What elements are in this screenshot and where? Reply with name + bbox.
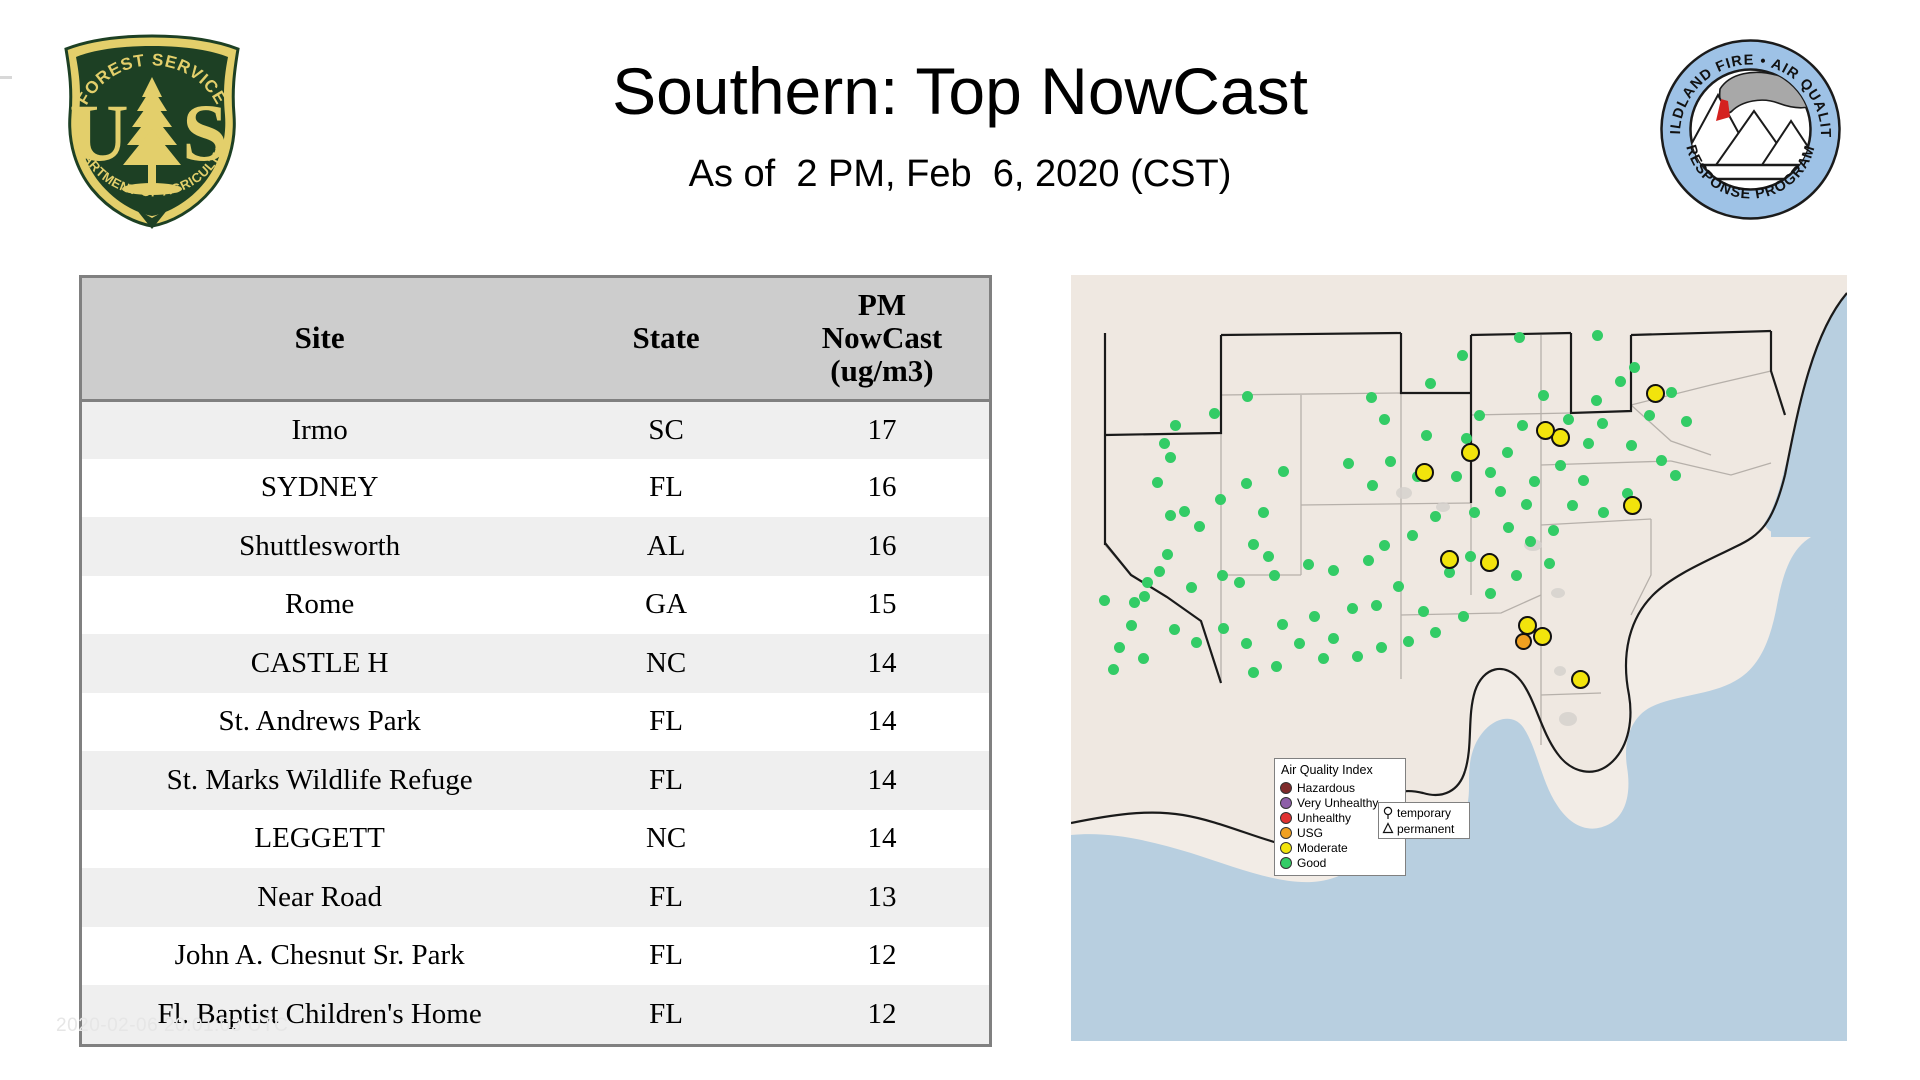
monitor-dot-good[interactable] (1186, 582, 1197, 593)
aqi-legend-label: Very Unhealthy (1297, 797, 1378, 809)
monitor-dot-good[interactable] (1309, 611, 1320, 622)
cell-state: FL (557, 693, 775, 752)
cell-state: SC (557, 400, 775, 459)
monitor-dot-good[interactable] (1179, 506, 1190, 517)
monitor-dot-moderate[interactable] (1623, 496, 1642, 515)
monitor-dot-good[interactable] (1591, 395, 1602, 406)
monitor-dot-good[interactable] (1666, 387, 1677, 398)
monitor-dot-good[interactable] (1347, 603, 1358, 614)
monitor-dot-good[interactable] (1271, 661, 1282, 672)
monitor-dot-good[interactable] (1458, 611, 1469, 622)
monitor-dot-good[interactable] (1218, 623, 1229, 634)
triangle-outline-icon (1382, 822, 1394, 836)
legend-label-temporary: temporary (1397, 807, 1451, 819)
cell-state: FL (557, 751, 775, 810)
monitor-dot-good[interactable] (1451, 471, 1462, 482)
air-quality-map[interactable]: Air Quality Index HazardousVery Unhealth… (1071, 275, 1847, 1041)
monitor-dot-good[interactable] (1555, 460, 1566, 471)
monitor-dot-good[interactable] (1425, 378, 1436, 389)
aqi-legend-row: Good (1280, 855, 1400, 870)
monitor-dot-good[interactable] (1421, 430, 1432, 441)
monitor-dot-good[interactable] (1644, 410, 1655, 421)
aqi-legend-label: Good (1297, 857, 1326, 869)
monitor-dot-good[interactable] (1328, 633, 1339, 644)
monitor-dot-good[interactable] (1418, 606, 1429, 617)
monitor-dot-good[interactable] (1517, 420, 1528, 431)
monitor-dot-good[interactable] (1407, 530, 1418, 541)
aqi-color-swatch-icon (1280, 857, 1292, 869)
monitor-dot-good[interactable] (1138, 653, 1149, 664)
cell-site: Near Road (82, 868, 557, 927)
monitor-dot-good[interactable] (1502, 447, 1513, 458)
monitor-dot-good[interactable] (1154, 566, 1165, 577)
monitor-dot-good[interactable] (1503, 522, 1514, 533)
monitor-dot-moderate[interactable] (1415, 463, 1434, 482)
cell-state: NC (557, 634, 775, 693)
column-header-pm-nowcast: PM NowCast (ug/m3) (775, 278, 989, 400)
table-row: St. Marks Wildlife RefugeFL14 (82, 751, 989, 810)
monitor-dot-good[interactable] (1430, 627, 1441, 638)
cell-pm-nowcast: 12 (775, 927, 989, 986)
cell-site: Rome (82, 576, 557, 635)
table-row: IrmoSC17 (82, 400, 989, 459)
monitor-dot-good[interactable] (1656, 455, 1667, 466)
page-subtitle: As of 2 PM, Feb 6, 2020 (CST) (300, 152, 1620, 196)
monitor-dot-good[interactable] (1567, 500, 1578, 511)
aqi-color-swatch-icon (1280, 782, 1292, 794)
monitor-dot-good[interactable] (1366, 392, 1377, 403)
table-header-row: Site State PM NowCast (ug/m3) (82, 278, 989, 400)
table-row: Near RoadFL13 (82, 868, 989, 927)
cell-site: SYDNEY (82, 459, 557, 518)
monitor-dot-good[interactable] (1521, 499, 1532, 510)
aqi-color-swatch-icon (1280, 812, 1292, 824)
cell-site: CASTLE H (82, 634, 557, 693)
left-edge-tick (0, 76, 12, 79)
monitor-dot-good[interactable] (1681, 416, 1692, 427)
monitor-dot-moderate[interactable] (1646, 384, 1665, 403)
table-row: ShuttlesworthAL16 (82, 517, 989, 576)
monitor-dot-good[interactable] (1578, 475, 1589, 486)
monitor-dot-moderate[interactable] (1440, 550, 1459, 569)
table-row: John A. Chesnut Sr. ParkFL12 (82, 927, 989, 986)
monitor-dot-good[interactable] (1248, 539, 1259, 550)
cell-state: FL (557, 459, 775, 518)
monitor-dot-good[interactable] (1597, 418, 1608, 429)
monitor-dot-good[interactable] (1352, 651, 1363, 662)
aqi-legend-label: Hazardous (1297, 782, 1355, 794)
table-row: SYDNEYFL16 (82, 459, 989, 518)
monitor-dot-good[interactable] (1592, 330, 1603, 341)
cell-state: FL (557, 985, 775, 1044)
monitor-dot-good[interactable] (1108, 664, 1119, 675)
cell-state: FL (557, 868, 775, 927)
aqi-legend-row: Hazardous (1280, 780, 1400, 795)
monitor-dot-good[interactable] (1393, 581, 1404, 592)
monitor-dot-good[interactable] (1343, 458, 1354, 469)
monitor-dot-good[interactable] (1485, 467, 1496, 478)
monitor-dot-good[interactable] (1269, 570, 1280, 581)
table-row: RomeGA15 (82, 576, 989, 635)
cell-pm-nowcast: 15 (775, 576, 989, 635)
monitor-dot-good[interactable] (1376, 642, 1387, 653)
monitor-dot-good[interactable] (1670, 470, 1681, 481)
monitor-dot-good[interactable] (1165, 510, 1176, 521)
monitor-dot-good[interactable] (1248, 667, 1259, 678)
aqi-legend-label: USG (1297, 827, 1323, 839)
monitor-dot-good[interactable] (1469, 507, 1480, 518)
monitor-dot-good[interactable] (1511, 570, 1522, 581)
monitor-dot-good[interactable] (1129, 597, 1140, 608)
table-row: CASTLE HNC14 (82, 634, 989, 693)
svg-text:S: S (182, 87, 228, 178)
monitor-dot-good[interactable] (1495, 486, 1506, 497)
monitor-dot-good[interactable] (1583, 438, 1594, 449)
monitor-dot-good[interactable] (1277, 619, 1288, 630)
cell-site: Shuttlesworth (82, 517, 557, 576)
monitor-dot-good[interactable] (1318, 653, 1329, 664)
cell-pm-nowcast: 14 (775, 634, 989, 693)
monitor-dot-good[interactable] (1465, 551, 1476, 562)
monitor-dot-moderate[interactable] (1533, 627, 1552, 646)
slide-root: FOREST SERVICE DEPARTMENT OF AGRICULTURE… (0, 0, 1920, 1080)
cell-state: GA (557, 576, 775, 635)
monitor-dot-good[interactable] (1629, 362, 1640, 373)
nowcast-table-container: Site State PM NowCast (ug/m3) IrmoSC17SY… (79, 275, 992, 1047)
monitor-dot-good[interactable] (1430, 511, 1441, 522)
monitor-dot-good[interactable] (1363, 555, 1374, 566)
monitor-dot-good[interactable] (1159, 438, 1170, 449)
monitor-dot-good[interactable] (1461, 433, 1472, 444)
page-title: Southern: Top NowCast (300, 55, 1620, 127)
monitor-dot-good[interactable] (1474, 410, 1485, 421)
monitor-dot-good[interactable] (1258, 507, 1269, 518)
legend-row-permanent: permanent (1382, 821, 1466, 837)
legend-row-temporary: temporary (1382, 805, 1466, 821)
cell-pm-nowcast: 14 (775, 693, 989, 752)
monitor-dot-moderate[interactable] (1536, 421, 1555, 440)
monitor-dot-moderate[interactable] (1461, 443, 1480, 462)
table-body: IrmoSC17SYDNEYFL16ShuttlesworthAL16RomeG… (82, 400, 989, 1044)
monitor-dot-good[interactable] (1114, 642, 1125, 653)
monitor-dot-good[interactable] (1598, 507, 1609, 518)
monitor-dot-good[interactable] (1209, 408, 1220, 419)
table-header: Site State PM NowCast (ug/m3) (82, 278, 989, 400)
monitor-dot-good[interactable] (1615, 376, 1626, 387)
cell-pm-nowcast: 16 (775, 517, 989, 576)
monitor-dot-good[interactable] (1099, 595, 1110, 606)
monitor-dot-good[interactable] (1241, 478, 1252, 489)
monitor-dot-moderate[interactable] (1480, 553, 1499, 572)
monitor-dot-good[interactable] (1538, 390, 1549, 401)
monitor-dot-good[interactable] (1514, 332, 1525, 343)
cell-pm-nowcast: 16 (775, 459, 989, 518)
cell-pm-nowcast: 17 (775, 400, 989, 459)
cell-site: Irmo (82, 400, 557, 459)
monitor-dot-good[interactable] (1194, 521, 1205, 532)
monitor-dot-good[interactable] (1328, 565, 1339, 576)
cell-pm-nowcast: 13 (775, 868, 989, 927)
svg-text:U: U (69, 87, 128, 178)
cell-state: NC (557, 810, 775, 869)
monitor-dot-good[interactable] (1385, 456, 1396, 467)
aqi-legend-row: Moderate (1280, 840, 1400, 855)
monitor-dot-moderate[interactable] (1571, 670, 1590, 689)
basemap-graphic (1071, 275, 1847, 1041)
monitor-dot-good[interactable] (1457, 350, 1468, 361)
monitor-dot-usg[interactable] (1515, 633, 1532, 650)
monitor-dot-good[interactable] (1217, 570, 1228, 581)
cell-pm-nowcast: 12 (775, 985, 989, 1044)
monitor-dot-good[interactable] (1529, 476, 1540, 487)
monitor-dot-good[interactable] (1525, 536, 1536, 547)
monitor-dot-good[interactable] (1263, 551, 1274, 562)
monitor-dot-good[interactable] (1191, 637, 1202, 648)
monitor-type-legend: temporary permanent (1378, 802, 1470, 839)
wfaqrp-logo: WILDLAND FIRE • AIR QUALITY RESPONSE PRO… (1658, 37, 1843, 222)
usfs-shield-logo: FOREST SERVICE DEPARTMENT OF AGRICULTURE… (52, 33, 252, 229)
table-row: LEGGETTNC14 (82, 810, 989, 869)
nowcast-table: Site State PM NowCast (ug/m3) IrmoSC17SY… (82, 278, 989, 1044)
monitor-dot-good[interactable] (1485, 588, 1496, 599)
column-header-site: Site (82, 278, 557, 400)
monitor-dot-good[interactable] (1379, 540, 1390, 551)
monitor-dot-good[interactable] (1367, 480, 1378, 491)
monitor-dot-good[interactable] (1142, 577, 1153, 588)
monitor-dot-good[interactable] (1126, 620, 1137, 631)
monitor-dot-good[interactable] (1241, 638, 1252, 649)
monitor-dot-good[interactable] (1303, 559, 1314, 570)
monitor-dot-good[interactable] (1165, 452, 1176, 463)
monitor-dot-good[interactable] (1278, 466, 1289, 477)
monitor-dot-good[interactable] (1152, 477, 1163, 488)
column-header-state: State (557, 278, 775, 400)
monitor-dot-good[interactable] (1139, 591, 1150, 602)
monitor-dot-good[interactable] (1169, 624, 1180, 635)
monitor-dot-good[interactable] (1626, 440, 1637, 451)
aqi-legend-label: Moderate (1297, 842, 1348, 854)
aqi-color-swatch-icon (1280, 842, 1292, 854)
monitor-dot-good[interactable] (1563, 414, 1574, 425)
aqi-legend-title: Air Quality Index (1281, 763, 1400, 777)
monitor-dot-good[interactable] (1548, 525, 1559, 536)
timestamp-watermark: 2020-02-06 20:01:03 UTC (56, 1015, 288, 1037)
monitor-dot-good[interactable] (1294, 638, 1305, 649)
cell-site: St. Andrews Park (82, 693, 557, 752)
monitor-dot-good[interactable] (1234, 577, 1245, 588)
aqi-legend-label: Unhealthy (1297, 812, 1351, 824)
monitor-dot-good[interactable] (1544, 558, 1555, 569)
legend-label-permanent: permanent (1397, 823, 1454, 835)
monitor-dot-good[interactable] (1170, 420, 1181, 431)
cell-state: FL (557, 927, 775, 986)
table-row: St. Andrews ParkFL14 (82, 693, 989, 752)
monitor-dot-good[interactable] (1242, 391, 1253, 402)
monitor-dot-good[interactable] (1215, 494, 1226, 505)
cell-pm-nowcast: 14 (775, 810, 989, 869)
cell-site: John A. Chesnut Sr. Park (82, 927, 557, 986)
monitor-dot-good[interactable] (1371, 600, 1382, 611)
cell-site: St. Marks Wildlife Refuge (82, 751, 557, 810)
aqi-color-swatch-icon (1280, 797, 1292, 809)
circle-outline-icon (1382, 806, 1394, 820)
monitor-dot-good[interactable] (1379, 414, 1390, 425)
monitor-dot-good[interactable] (1162, 549, 1173, 560)
aqi-color-swatch-icon (1280, 827, 1292, 839)
cell-site: LEGGETT (82, 810, 557, 869)
cell-pm-nowcast: 14 (775, 751, 989, 810)
cell-state: AL (557, 517, 775, 576)
monitor-dot-good[interactable] (1403, 636, 1414, 647)
